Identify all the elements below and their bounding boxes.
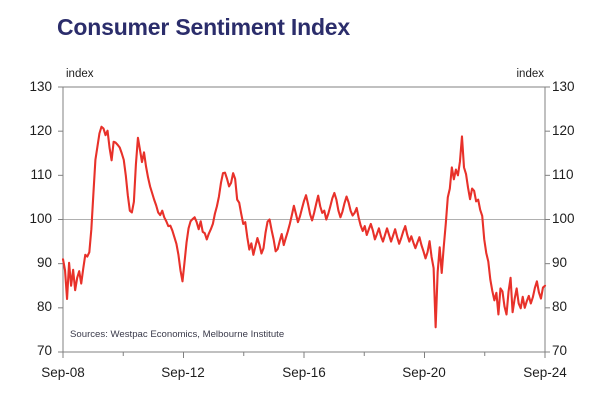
chart-figure: Consumer Sentiment Index index index 130… [0, 0, 600, 414]
plot-area [0, 0, 600, 414]
series-line-consumer-sentiment-index [63, 127, 545, 328]
axes-layer [58, 87, 550, 358]
series-layer [63, 127, 545, 328]
